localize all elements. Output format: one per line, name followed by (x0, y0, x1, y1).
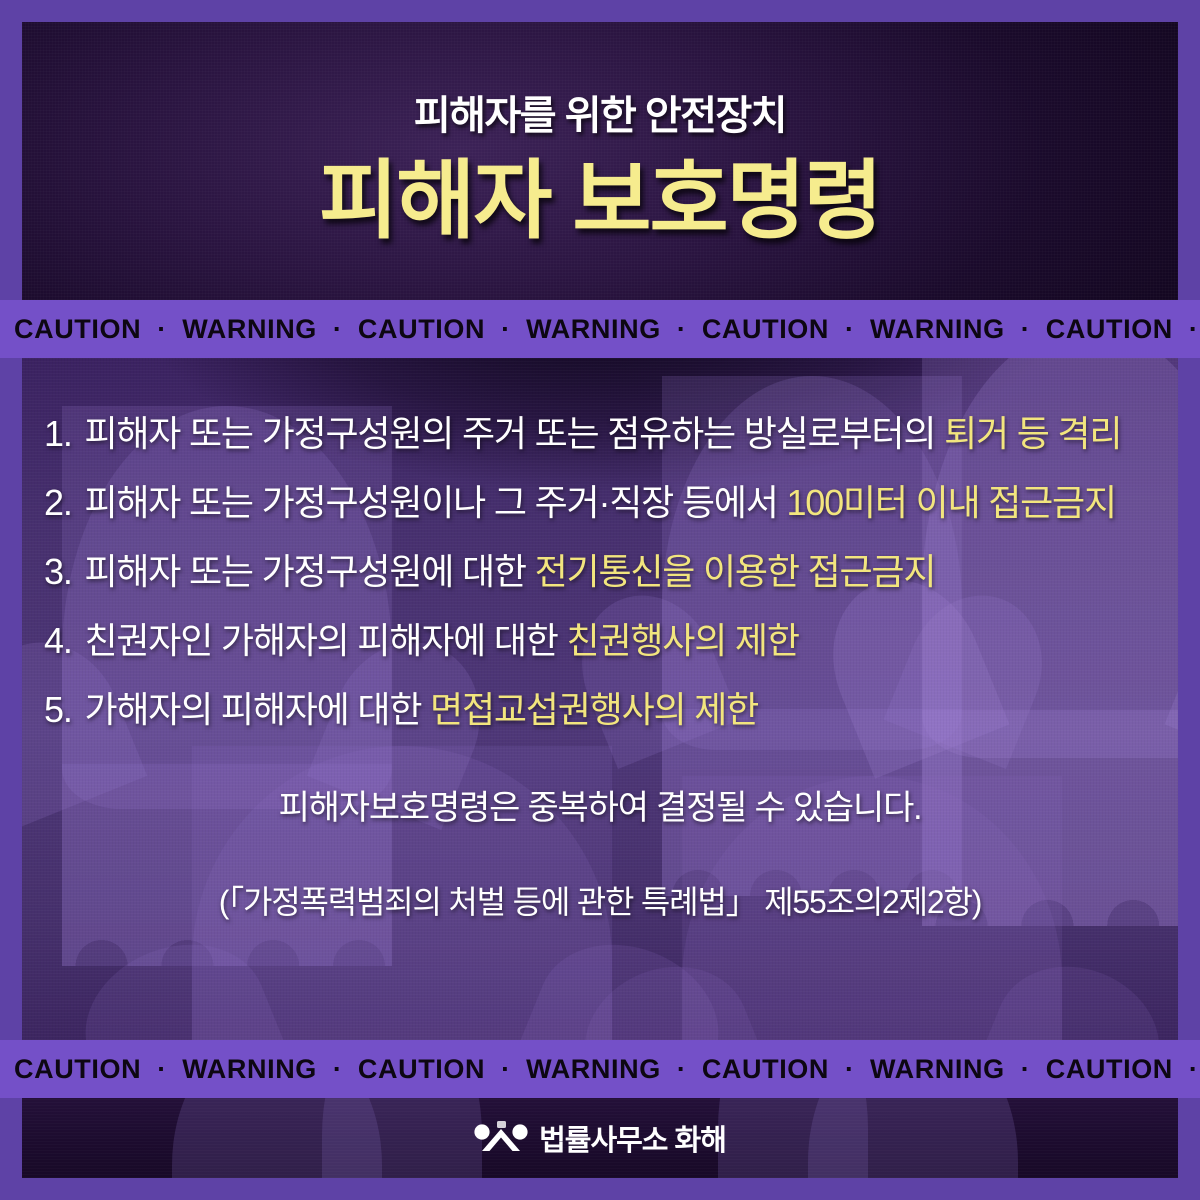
ghost-icon (718, 1098, 868, 1178)
measure-number: 2. (44, 482, 80, 523)
measure-number: 4. (44, 620, 80, 661)
caution-word: WARNING (526, 314, 661, 345)
measure-plain-text: 피해자 또는 가정구성원의 주거 또는 점유하는 방실로부터의 (84, 413, 944, 454)
measure-highlight-text: 전기통신을 이용한 접근금지 (535, 551, 936, 592)
caution-separator-dot: · (317, 1054, 358, 1085)
measure-number: 3. (44, 551, 80, 592)
measure-highlight-text: 친권행사의 제한 (567, 620, 799, 661)
caution-word: WARNING (182, 314, 317, 345)
caution-separator-dot: · (485, 1054, 526, 1085)
poster-footer: 법률사무소 화해 (22, 1098, 1178, 1178)
note-block: 피해자보호명령은 중복하여 결정될 수 있습니다. (「가정폭력범죄의 처벌 등… (44, 780, 1178, 923)
poster-root: 피해자를 위한 안전장치 피해자 보호명령 CAUTION·WARNING·CA… (0, 0, 1200, 1200)
caution-separator-dot: · (829, 314, 870, 345)
ghost-icon (322, 1098, 482, 1178)
measure-item: 3. 피해자 또는 가정구성원에 대한 전기통신을 이용한 접근금지 (44, 554, 1178, 590)
law-reference: (「가정폭력범죄의 처벌 등에 관한 특례법」 제55조의2제2항) (44, 877, 1156, 923)
caution-word: WARNING (526, 1054, 661, 1085)
brand-lockup: 법률사무소 화해 (474, 1117, 726, 1159)
body-content: 1. 피해자 또는 가정구성원의 주거 또는 점유하는 방실로부터의 퇴거 등 … (22, 346, 1178, 923)
measure-highlight-text: 퇴거 등 격리 (944, 413, 1121, 454)
measure-number: 1. (44, 413, 80, 454)
measure-item: 2. 피해자 또는 가정구성원이나 그 주거·직장 등에서 100미터 이내 접… (44, 485, 1178, 521)
header-kicker: 피해자를 위한 안전장치 (414, 83, 786, 141)
caution-separator-dot: · (661, 314, 702, 345)
measure-item: 1. 피해자 또는 가정구성원의 주거 또는 점유하는 방실로부터의 퇴거 등 … (44, 416, 1178, 452)
caution-banner-bottom: CAUTION·WARNING·CAUTION·WARNING·CAUTION·… (0, 1040, 1200, 1098)
caution-separator-dot: · (485, 314, 526, 345)
header-headline: 피해자 보호명령 (319, 155, 881, 248)
measure-plain-text: 가해자의 피해자에 대한 (84, 689, 430, 730)
poster-header: 피해자를 위한 안전장치 피해자 보호명령 (22, 22, 1178, 300)
note-text: 피해자보호명령은 중복하여 결정될 수 있습니다. (44, 780, 1156, 829)
caution-separator-dot: · (141, 314, 182, 345)
measure-highlight-text: 면접교섭권행사의 제한 (430, 689, 758, 730)
caution-word: CAUTION (14, 1054, 141, 1085)
caution-separator-dot: · (661, 1054, 702, 1085)
caution-separator-dot: · (1005, 314, 1046, 345)
caution-word: CAUTION (358, 314, 485, 345)
caution-separator-dot: · (1173, 1054, 1200, 1085)
measure-item: 4. 친권자인 가해자의 피해자에 대한 친권행사의 제한 (44, 623, 1178, 659)
caution-word: CAUTION (1046, 314, 1173, 345)
caution-word: CAUTION (14, 314, 141, 345)
caution-word: WARNING (870, 314, 1005, 345)
caution-track-bottom: CAUTION·WARNING·CAUTION·WARNING·CAUTION·… (0, 1054, 1200, 1085)
brand-name: 법률사무소 화해 (539, 1117, 726, 1159)
caution-word: CAUTION (702, 314, 829, 345)
measure-item: 5. 가해자의 피해자에 대한 면접교섭권행사의 제한 (44, 692, 1178, 728)
caution-separator-dot: · (317, 314, 358, 345)
measures-list: 1. 피해자 또는 가정구성원의 주거 또는 점유하는 방실로부터의 퇴거 등 … (44, 416, 1178, 728)
caution-banner-top: CAUTION·WARNING·CAUTION·WARNING·CAUTION·… (0, 300, 1200, 358)
caution-separator-dot: · (829, 1054, 870, 1085)
caution-word: WARNING (870, 1054, 1005, 1085)
caution-word: CAUTION (702, 1054, 829, 1085)
caution-separator-dot: · (1173, 314, 1200, 345)
measure-plain-text: 피해자 또는 가정구성원이나 그 주거·직장 등에서 (84, 482, 786, 523)
caution-word: WARNING (182, 1054, 317, 1085)
caution-separator-dot: · (141, 1054, 182, 1085)
caution-word: CAUTION (358, 1054, 485, 1085)
measure-number: 5. (44, 689, 80, 730)
reconciliation-logo-icon (474, 1119, 528, 1158)
caution-separator-dot: · (1005, 1054, 1046, 1085)
measure-highlight-text: 100미터 이내 접근금지 (786, 482, 1115, 523)
poster-body: 1. 피해자 또는 가정구성원의 주거 또는 점유하는 방실로부터의 퇴거 등 … (22, 346, 1178, 1046)
caution-word: CAUTION (1046, 1054, 1173, 1085)
caution-track-top: CAUTION·WARNING·CAUTION·WARNING·CAUTION·… (0, 314, 1200, 345)
measure-plain-text: 피해자 또는 가정구성원에 대한 (84, 551, 534, 592)
measure-plain-text: 친권자인 가해자의 피해자에 대한 (84, 620, 566, 661)
